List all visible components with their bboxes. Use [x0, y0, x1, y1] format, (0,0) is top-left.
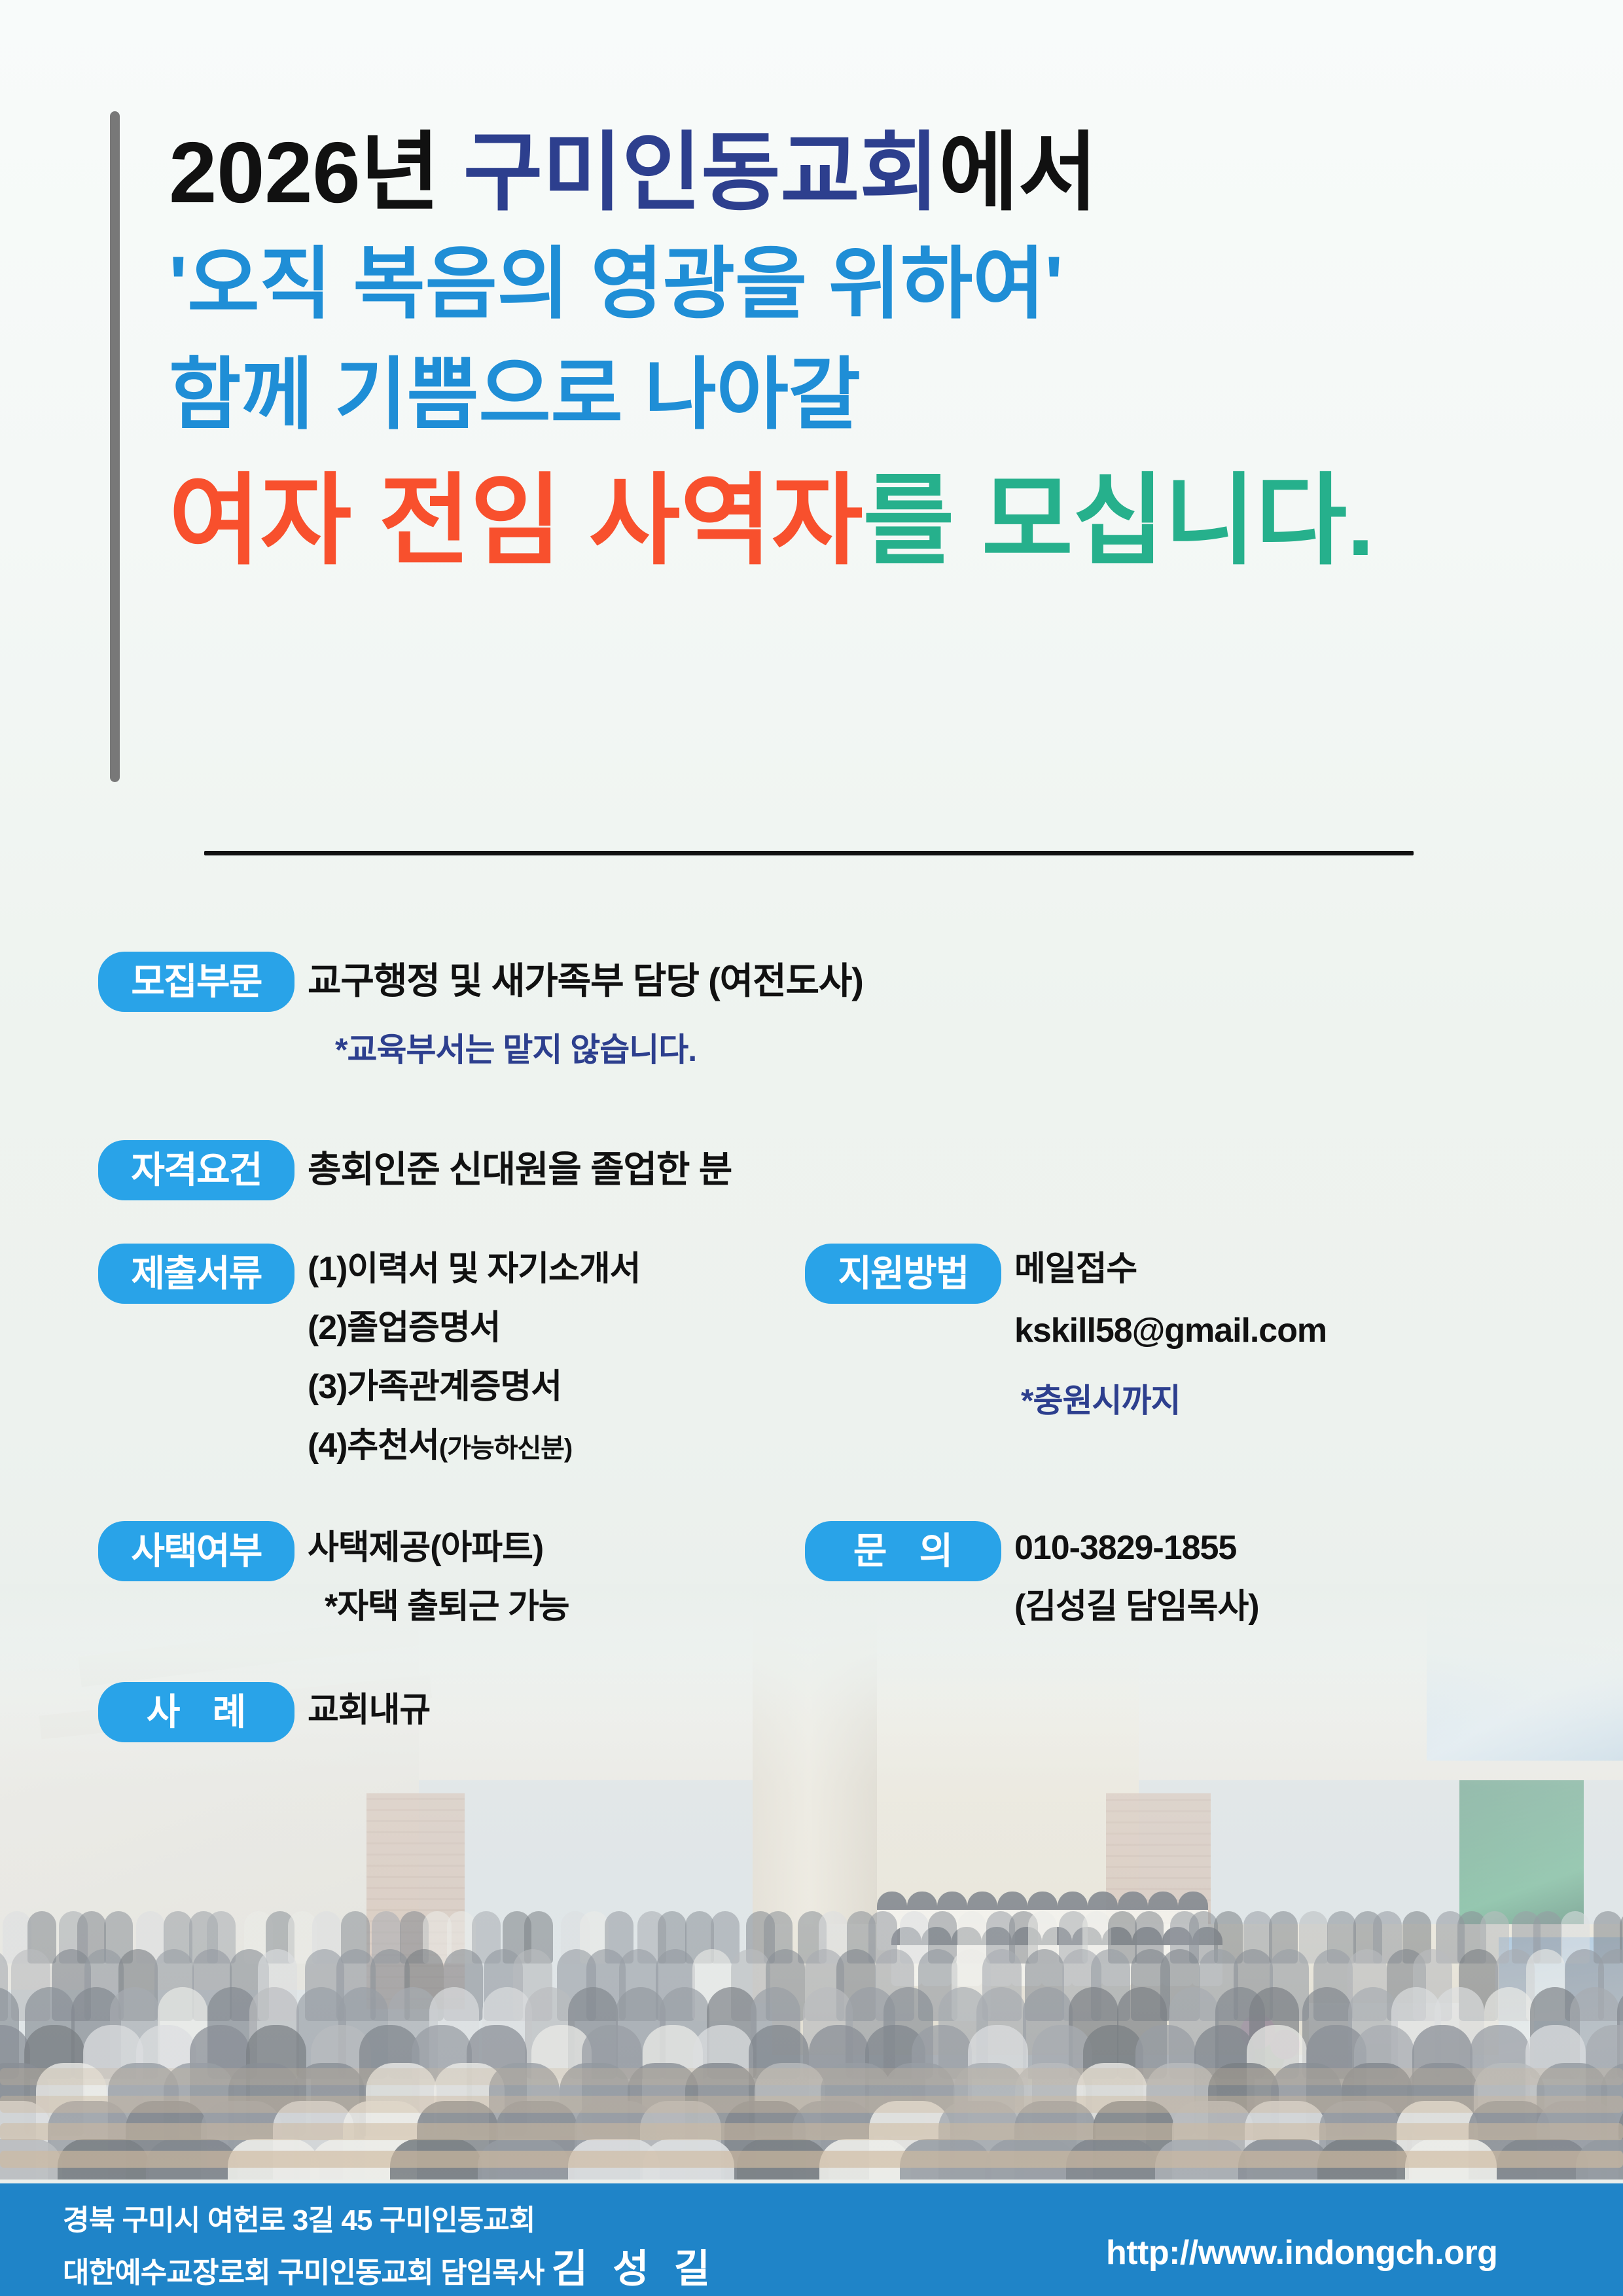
label-documents: 제출서류 — [98, 1244, 294, 1304]
headline-line-4: 여자 전임 사역자를 모십니다. — [169, 455, 1517, 588]
footer-bar: 경북 구미시 여헌로 3길 45 구미인동교회 대한예수교장로회 구미인동교회 … — [0, 2183, 1623, 2296]
footer-address-block: 경북 구미시 여헌로 3길 45 구미인동교회 대한예수교장로회 구미인동교회 … — [63, 2200, 717, 2296]
section-divider — [204, 851, 1414, 855]
value-compensation: 교회내규 — [308, 1689, 430, 1733]
footer-website-url[interactable]: http://www.indongch.org — [1106, 2233, 1497, 2272]
note-recruit-field: *교육부서는 맡지 않습니다. — [335, 1024, 696, 1071]
label-compensation: 사 례 — [98, 1682, 294, 1742]
document-item-3: (3)가족관계증명서 — [308, 1365, 562, 1410]
label-qualification: 자격요건 — [98, 1140, 294, 1200]
headline-year: 2026년 — [169, 124, 463, 221]
document-item-4-note: (가능하신분) — [439, 1434, 572, 1463]
headline-line-1: 2026년 구미인동교회에서 — [169, 118, 1517, 228]
headline-line-2: '오직 복음의 영광을 위하여' — [169, 228, 1517, 340]
document-item-4-main: (4)추천서 — [308, 1427, 439, 1465]
label-contact: 문 의 — [805, 1521, 1001, 1581]
footer-address: 경북 구미시 여헌로 3길 45 구미인동교회 — [63, 2200, 717, 2241]
note-apply-deadline: *충원시까지 — [1021, 1374, 1180, 1422]
headline-invite-verb: 모십니다. — [982, 465, 1374, 577]
footer-pastor-name: 김 성 길 — [552, 2247, 717, 2291]
headline-accent-bar — [110, 111, 120, 782]
document-item-4: (4)추천서(가능하신분) — [308, 1424, 572, 1469]
apply-email-address[interactable]: kskill58@gmail.com — [1014, 1309, 1327, 1354]
footer-org-line: 대한예수교장로회 구미인동교회 담임목사 김 성 길 — [63, 2241, 717, 2296]
document-item-2: (2)졸업증명서 — [308, 1306, 500, 1351]
headline-role: 여자 전임 사역자 — [169, 465, 863, 577]
headline-suffix-particle: 를 — [863, 465, 981, 577]
footer-org: 대한예수교장로회 구미인동교회 담임목사 — [63, 2257, 552, 2289]
poster-canvas: 2026년 구미인동교회에서 '오직 복음의 영광을 위하여' 함께 기쁨으로 … — [0, 0, 1623, 2296]
label-recruit-field: 모집부문 — [98, 952, 294, 1012]
headline-line1-suffix: 에서 — [939, 124, 1097, 221]
headline-line-3: 함께 기쁨으로 나아갈 — [169, 340, 1517, 450]
value-qualification: 총회인준 신대원을 졸업한 분 — [308, 1148, 732, 1191]
note-housing-commute: *자택 출퇴근 가능 — [325, 1585, 569, 1630]
headline-block: 2026년 구미인동교회에서 '오직 복음의 영광을 위하여' 함께 기쁨으로 … — [169, 118, 1517, 588]
label-apply-method: 지원방법 — [805, 1244, 1001, 1304]
value-apply-method: 메일접수 — [1014, 1247, 1137, 1292]
value-housing: 사택제공(아파트) — [308, 1526, 543, 1571]
background-photo — [0, 1584, 1623, 2179]
headline-church-name: 구미인동교회 — [463, 124, 939, 221]
value-recruit-field: 교구행정 및 새가족부 담당 (여전도사) — [308, 960, 863, 1003]
contact-phone-number[interactable]: 010-3829-1855 — [1014, 1526, 1236, 1571]
label-housing: 사택여부 — [98, 1521, 294, 1581]
contact-person-name: (김성길 담임목사) — [1014, 1585, 1259, 1630]
document-item-1: (1)이력서 및 자기소개서 — [308, 1247, 640, 1292]
